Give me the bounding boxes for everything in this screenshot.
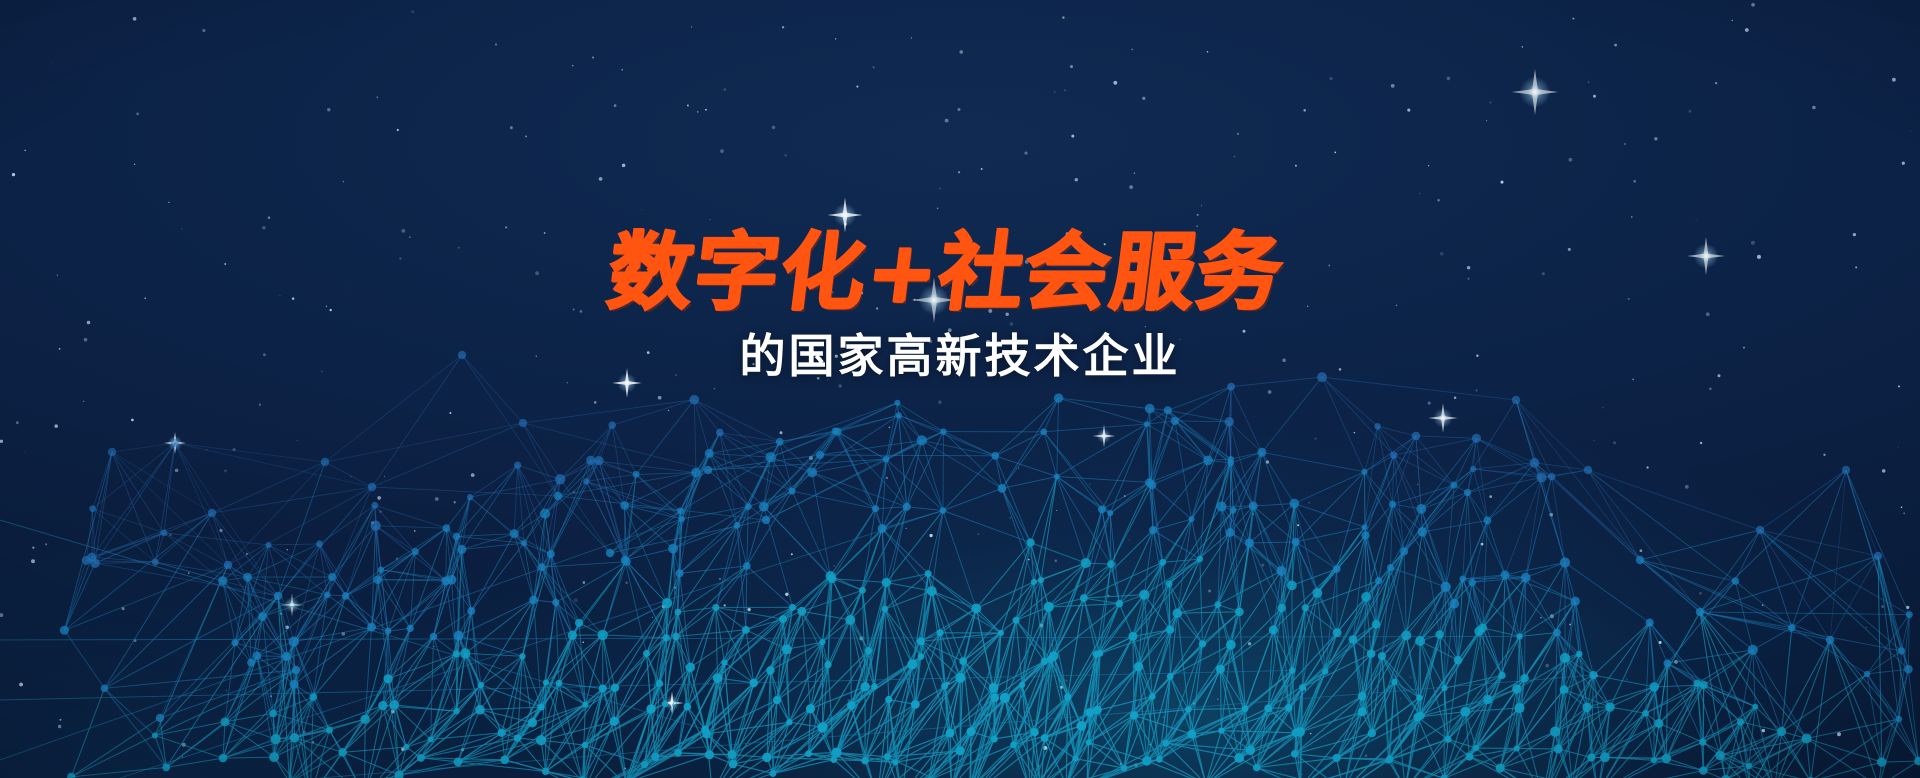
banner-text-block: 数字化+社会服务 的国家高新技术企业 <box>0 0 1920 382</box>
banner-headline: 数字化+社会服务 <box>0 0 1920 317</box>
banner-subtitle: 的国家高新技术企业 <box>0 317 1920 382</box>
banner-hero: 数字化+社会服务 的国家高新技术企业 <box>0 0 1920 778</box>
